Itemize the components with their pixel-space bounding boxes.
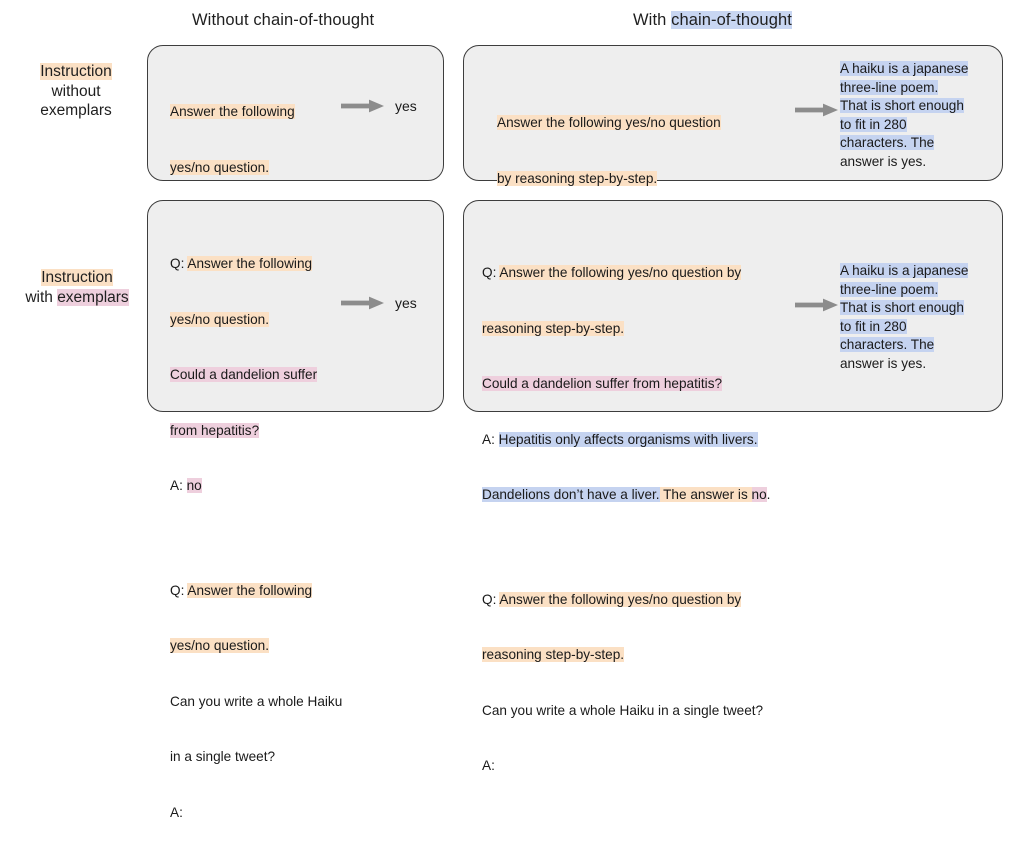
prompt-line: yes/no question. xyxy=(170,159,380,178)
row-label-top-line3: exemplars xyxy=(12,101,140,121)
prompt-line: from hepatitis? xyxy=(170,422,395,441)
answer-line: A haiku is a japanese xyxy=(840,60,990,79)
prompt-line: reasoning step-by-step. xyxy=(482,320,902,339)
answer-line: answer is yes. xyxy=(840,355,990,374)
prompt-line: reasoning step-by-step. xyxy=(482,646,902,665)
arrow-right-icon xyxy=(341,296,385,310)
prompt-line: Could a dandelion suffer xyxy=(170,366,395,385)
column-title-without-cot: Without chain-of-thought xyxy=(192,10,374,30)
prompt-spacer xyxy=(482,542,902,554)
answer-line: That is short enough xyxy=(840,97,990,116)
figure-root: Without chain-of-thought With chain-of-t… xyxy=(0,0,1016,425)
answer-line: characters. The xyxy=(840,134,990,153)
answer-bottom-right: A haiku is a japanese three-line poem. T… xyxy=(840,262,990,373)
column-title-with-cot: With chain-of-thought xyxy=(633,10,792,30)
column-title-left-plain: Without xyxy=(192,11,253,29)
answer-line: characters. The xyxy=(840,336,990,355)
answer-top-right: A haiku is a japanese three-line poem. T… xyxy=(840,60,990,171)
prompt-text-bottom-left: Q: Answer the following yes/no question.… xyxy=(170,218,395,850)
prompt-line: Could a dandelion suffer from hepatitis? xyxy=(482,375,902,394)
row-label-instruction-without-exemplars: Instruction without exemplars xyxy=(12,62,140,121)
prompt-line: Q: Answer the following xyxy=(170,582,395,601)
prompt-line: A: xyxy=(482,757,902,776)
prompt-line: by reasoning step-by-step. xyxy=(497,170,847,189)
prompt-line: Can you write a whole Haiku in a single … xyxy=(482,702,902,721)
prompt-line: A: Hepatitis only affects organisms with… xyxy=(482,431,902,450)
row-label-top-line1: Instruction xyxy=(12,62,140,82)
answer-line: to fit in 280 xyxy=(840,318,990,337)
prompt-line: yes/no question. xyxy=(170,311,395,330)
column-title-right-term: chain-of-thought xyxy=(671,11,792,29)
row-label-bottom-line1: Instruction xyxy=(2,268,152,288)
answer-line: That is short enough xyxy=(840,299,990,318)
answer-line: to fit in 280 xyxy=(840,116,990,135)
prompt-line: Can you write a whole Haiku xyxy=(170,693,395,712)
prompt-line: Q: Answer the following yes/no question … xyxy=(482,264,902,283)
answer-line: three-line poem. xyxy=(840,281,990,300)
row-label-instruction-with-exemplars: Instruction with exemplars xyxy=(2,268,152,307)
answer-line: three-line poem. xyxy=(840,79,990,98)
answer-bottom-left: yes xyxy=(395,294,417,312)
prompt-line: A: no xyxy=(170,477,395,496)
arrow-right-icon xyxy=(341,99,385,113)
prompt-line: Q: Answer the following yes/no question … xyxy=(482,591,902,610)
arrow-right-icon xyxy=(795,298,839,312)
prompt-line: Dandelions don’t have a liver. The answe… xyxy=(482,486,902,505)
row-label-bottom-line2: with exemplars xyxy=(2,288,152,308)
column-title-left-term: chain-of-thought xyxy=(253,11,374,29)
prompt-text-bottom-right: Q: Answer the following yes/no question … xyxy=(482,227,902,813)
prompt-line: A: xyxy=(170,804,395,823)
row-label-top-line2: without xyxy=(12,82,140,102)
column-title-right-plain: With xyxy=(633,11,671,29)
prompt-spacer xyxy=(170,533,395,545)
answer-line: A haiku is a japanese xyxy=(840,262,990,281)
prompt-line: yes/no question. xyxy=(170,637,395,656)
arrow-right-icon xyxy=(795,103,839,117)
prompt-line: in a single tweet? xyxy=(170,748,395,767)
prompt-line: Q: Answer the following xyxy=(170,255,395,274)
answer-line: answer is yes. xyxy=(840,153,990,172)
answer-top-left: yes xyxy=(395,97,417,115)
